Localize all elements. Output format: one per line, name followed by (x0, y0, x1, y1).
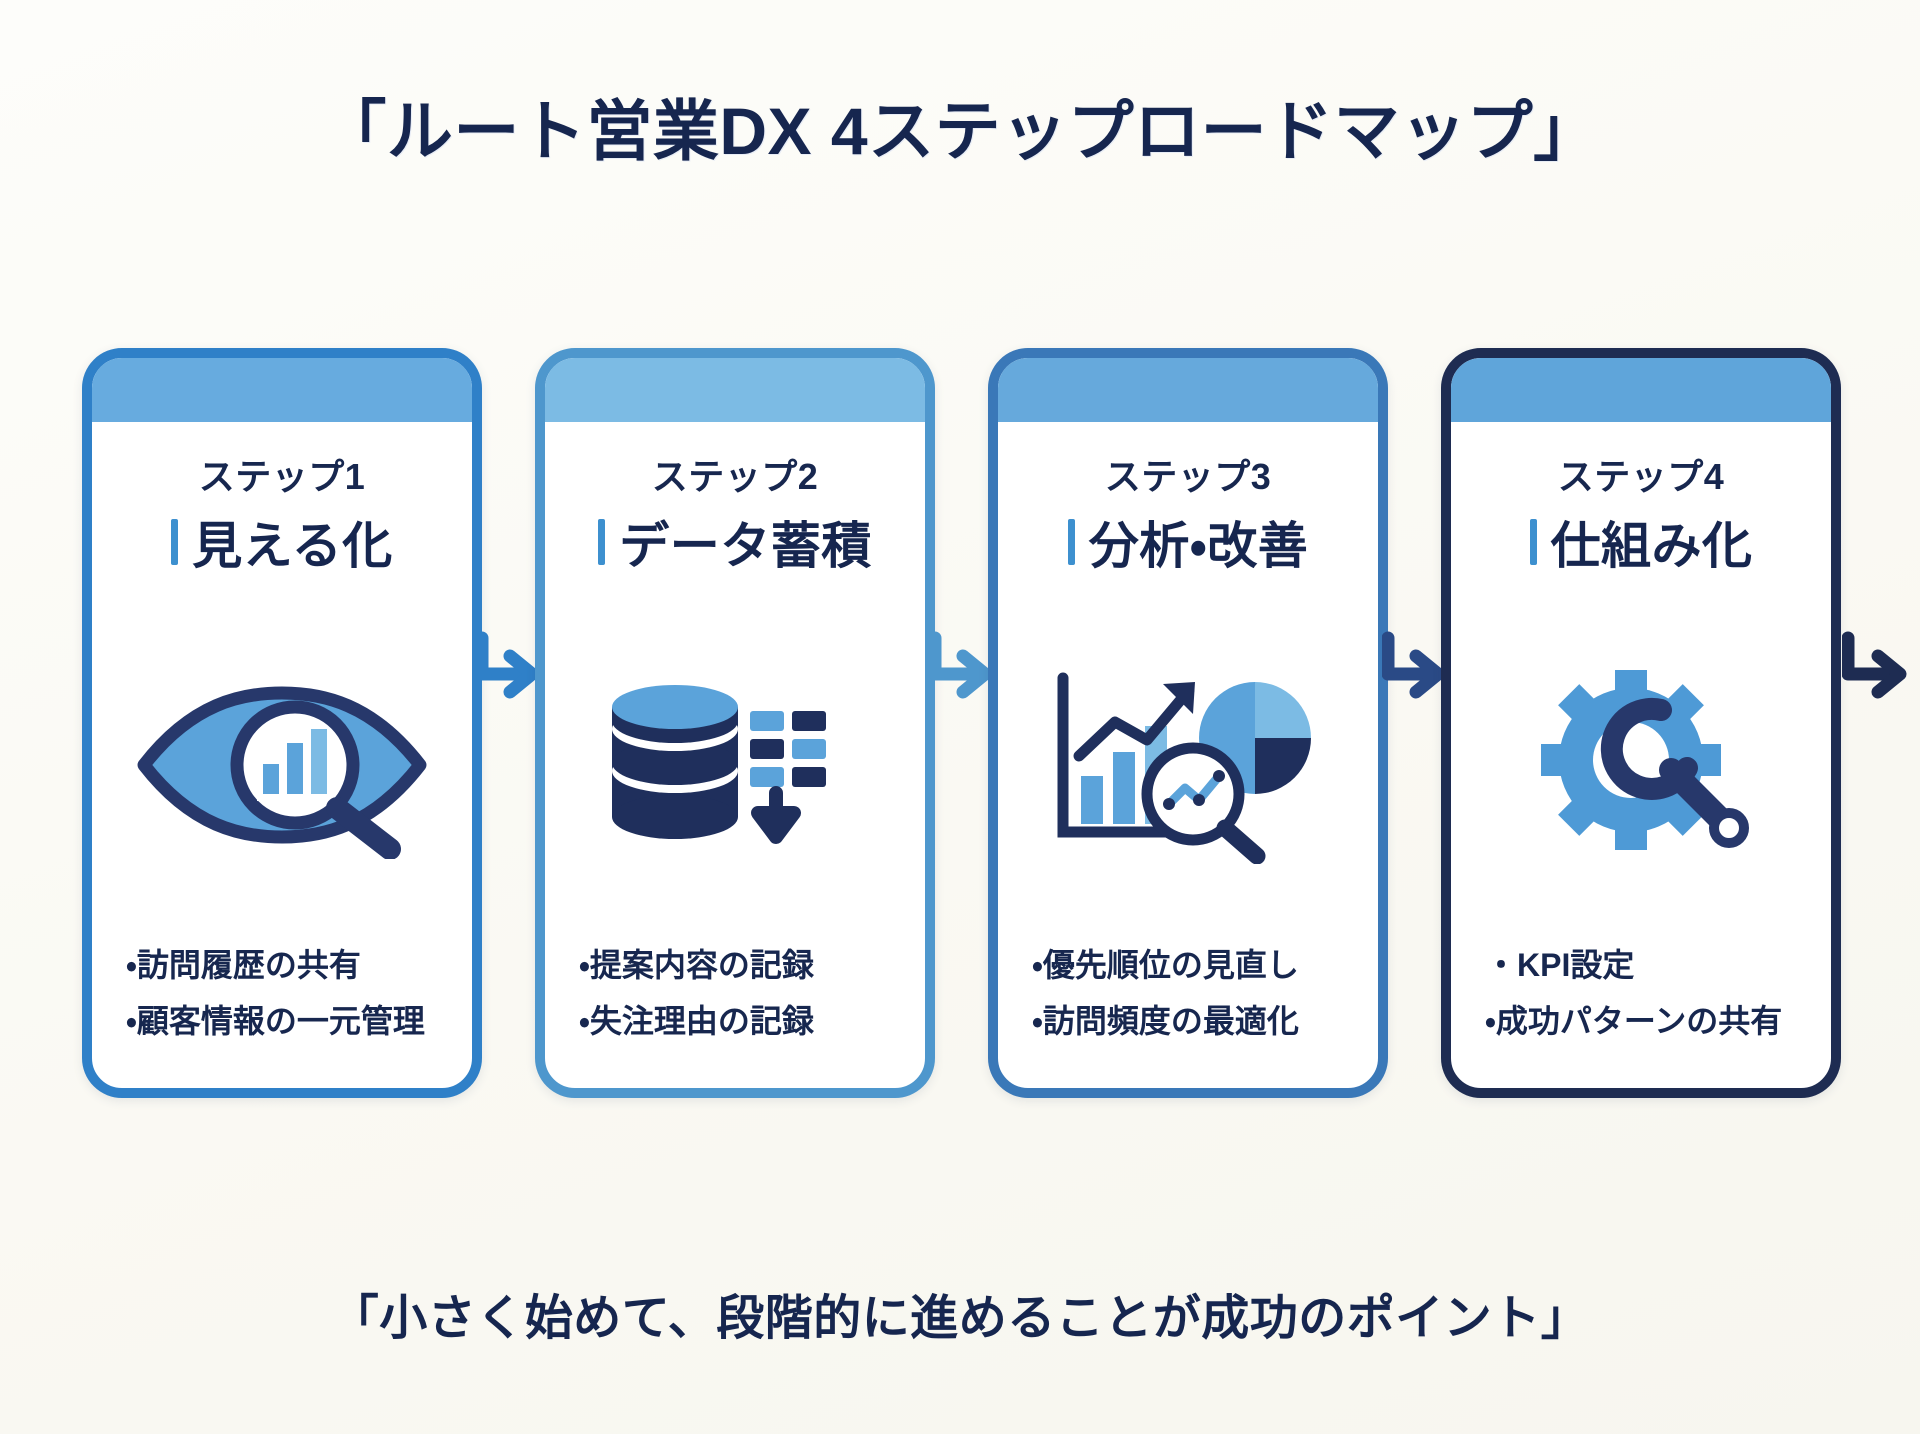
step-number-3: ステップ3 (1105, 448, 1272, 500)
bullet-list-3: ・優先順位の見直し ・訪問頻度の最適化 (1012, 940, 1364, 1066)
arrow-step3-to-step4 (1388, 348, 1441, 1098)
database-stack-icon (559, 588, 911, 940)
bullet-list-4: ・KPI設定 ・成功パターンの共有 (1465, 940, 1817, 1066)
step-title-row-2: データ蓄積 (598, 506, 872, 578)
card-header-band-4 (1451, 358, 1831, 422)
step-number-1: ステップ1 (199, 448, 366, 500)
card-body-3: ステップ3 分析・改善 (998, 422, 1378, 1088)
list-item: ・訪問履歴の共有 (112, 940, 452, 986)
step-card-4[interactable]: ステップ4 仕組み化 (1441, 348, 1841, 1098)
step-title-row-1: 見える化 (171, 506, 393, 578)
card-header-band-3 (998, 358, 1378, 422)
step-number-4: ステップ4 (1558, 448, 1725, 500)
card-header-band-1 (92, 358, 472, 422)
step-card-slot-3: ステップ3 分析・改善 (988, 348, 1388, 1098)
eye-magnifier-chart-icon (106, 588, 458, 940)
step-title-row-4: 仕組み化 (1530, 506, 1753, 578)
bullet-list-1: ・訪問履歴の共有 ・顧客情報の一元管理 (106, 940, 458, 1066)
card-body-2: ステップ2 データ蓄積 (545, 422, 925, 1088)
title-accent-bar-4 (1530, 519, 1537, 565)
list-item: ・訪問頻度の最適化 (1018, 996, 1358, 1042)
step-number-2: ステップ2 (652, 448, 819, 500)
page-title: 「ルート営業DX 4ステップロードマップ」 (0, 78, 1920, 174)
step-card-slot-1: ステップ1 見える化 (82, 348, 482, 1098)
title-accent-bar-2 (598, 519, 605, 565)
arrow-step1-to-step2 (482, 348, 535, 1098)
list-item: ・成功パターンの共有 (1471, 996, 1811, 1042)
title-accent-bar-1 (171, 519, 178, 565)
card-header-band-2 (545, 358, 925, 422)
gear-wrench-icon (1465, 588, 1817, 940)
step-title-4: 仕組み化 (1551, 506, 1753, 578)
arrow-step2-to-step3 (935, 348, 988, 1098)
step-card-1[interactable]: ステップ1 見える化 (82, 348, 482, 1098)
footer-container: 「小さく始めて、段階的に進めることが成功のポイント」 (0, 1278, 1920, 1348)
step-card-2[interactable]: ステップ2 データ蓄積 (535, 348, 935, 1098)
step-title-row-3: 分析・改善 (1068, 506, 1309, 578)
step-title-3: 分析・改善 (1089, 506, 1309, 578)
card-body-4: ステップ4 仕組み化 (1451, 422, 1831, 1088)
step-title-1: 見える化 (192, 506, 393, 578)
footer-caption: 「小さく始めて、段階的に進めることが成功のポイント」 (0, 1278, 1920, 1348)
bar-chart-pie-magnifier-icon (1012, 588, 1364, 940)
card-body-1: ステップ1 見える化 (92, 422, 472, 1088)
infographic-canvas: 「ルート営業DX 4ステップロードマップ」 ステップ1 見える化 (0, 0, 1920, 1434)
list-item: ・KPI設定 (1471, 940, 1811, 986)
step-card-slot-2: ステップ2 データ蓄積 (535, 348, 935, 1098)
list-item: ・提案内容の記録 (565, 940, 905, 986)
list-item: ・顧客情報の一元管理 (112, 996, 452, 1042)
step-title-2: データ蓄積 (619, 506, 872, 578)
steps-row: ステップ1 見える化 (82, 348, 1842, 1098)
arrow-step4-outflow (1842, 348, 1916, 1098)
bullet-list-2: ・提案内容の記録 ・失注理由の記録 (559, 940, 911, 1066)
list-item: ・優先順位の見直し (1018, 940, 1358, 986)
step-card-slot-4: ステップ4 仕組み化 (1441, 348, 1841, 1098)
list-item: ・失注理由の記録 (565, 996, 905, 1042)
title-accent-bar-3 (1068, 519, 1075, 565)
title-container: 「ルート営業DX 4ステップロードマップ」 (0, 78, 1920, 174)
step-card-3[interactable]: ステップ3 分析・改善 (988, 348, 1388, 1098)
